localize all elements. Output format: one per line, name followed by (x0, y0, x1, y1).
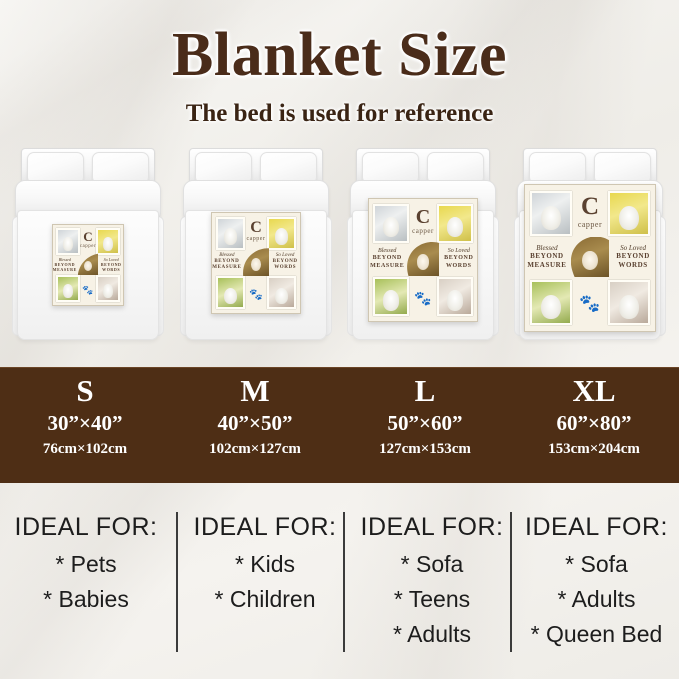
ideal-item: * Sofa (347, 551, 517, 577)
ideal-item: * Adults (347, 621, 517, 647)
size-cm: 102cm×127cm (170, 441, 340, 458)
column-divider (510, 512, 512, 652)
size-label: L (340, 374, 510, 408)
photo-dog-3 (373, 277, 409, 316)
monogram-block: C capper (409, 205, 437, 239)
monogram-letter: C (416, 208, 430, 226)
ideal-heading: IDEAL FOR: (347, 514, 517, 542)
heart-photo (407, 242, 439, 276)
size-label: S (0, 374, 170, 408)
photo-dog-2 (96, 228, 121, 255)
photo-dog-4 (608, 280, 650, 326)
blessed-text: Blessed BEYOND MEASURE (216, 249, 239, 275)
loved-text: So Loved BEYOND WORDS (274, 249, 297, 275)
size-column-xl: XL 60”×80” 153cm×204cm (509, 368, 679, 483)
blessed-text: Blessed BEYOND MEASURE (373, 243, 401, 274)
blanket-size-infographic: Blanket Size The bed is used for referen… (0, 0, 679, 679)
photo-dog-2 (267, 217, 297, 250)
monogram-block: C capper (79, 229, 97, 251)
ideal-item: * Pets (0, 551, 172, 577)
monogram-letter: C (250, 221, 262, 235)
heart-photo (78, 253, 99, 275)
photo-dog-3 (216, 276, 246, 309)
monogram-letter: C (581, 196, 599, 219)
size-column-l: L 50”×60” 127cm×153cm (340, 368, 510, 483)
blessed-text: Blessed BEYOND MEASURE (56, 254, 74, 275)
bed-panel-s: C capper Blessed BEYOND MEASURE So Loved… (12, 146, 164, 342)
bed-panel-xl: C capper Blessed BEYOND MEASURE So Loved… (514, 146, 666, 342)
ideal-column-l: IDEAL FOR: * Sofa * Teens * Adults (347, 500, 517, 679)
ideal-item: * Adults (514, 586, 679, 612)
ideal-heading: IDEAL FOR: (0, 514, 172, 542)
photo-dog-1 (373, 204, 409, 243)
loved-text: So Loved BEYOND WORDS (616, 238, 649, 276)
photo-dog-4 (96, 275, 121, 302)
ideal-heading: IDEAL FOR: (180, 514, 350, 542)
size-label: XL (509, 374, 679, 408)
monogram-block: C capper (245, 218, 268, 246)
photo-dog-4 (437, 277, 473, 316)
paw-heart-icon: 🐾 (573, 285, 606, 324)
size-cm: 76cm×102cm (0, 441, 170, 458)
ideal-heading: IDEAL FOR: (514, 514, 679, 542)
paw-heart-icon: 🐾 (79, 280, 97, 301)
blessed-text: Blessed BEYOND MEASURE (530, 238, 563, 276)
size-label: M (170, 374, 340, 408)
size-cm: 127cm×153cm (340, 441, 510, 458)
ideal-item: * Sofa (514, 551, 679, 577)
size-inches: 30”×40” (0, 412, 170, 435)
pet-name: capper (578, 220, 602, 229)
ideal-item: * Babies (0, 586, 172, 612)
photo-dog-3 (530, 280, 572, 326)
size-band: S 30”×40” 76cm×102cm M 40”×50” 102cm×127… (0, 367, 679, 483)
monogram-block: C capper (573, 192, 606, 232)
photo-dog-2 (608, 191, 650, 237)
photo-dog-1 (530, 191, 572, 237)
loved-text: So Loved BEYOND WORDS (445, 243, 473, 274)
monogram-letter: C (83, 231, 92, 243)
size-cm: 153cm×204cm (509, 441, 679, 458)
size-inches: 50”×60” (340, 412, 510, 435)
ideal-item: * Kids (180, 551, 350, 577)
blanket-l: C capper Blessed BEYOND MEASURE So Loved… (368, 198, 478, 322)
ideal-column-m: IDEAL FOR: * Kids * Children (180, 500, 350, 679)
pet-name: capper (412, 227, 434, 235)
page-title: Blanket Size (0, 24, 679, 86)
paw-heart-icon: 🐾 (409, 282, 437, 315)
ideal-column-s: IDEAL FOR: * Pets * Babies (0, 500, 172, 679)
bed-panel-l: C capper Blessed BEYOND MEASURE So Loved… (347, 146, 499, 342)
pet-name: capper (80, 244, 96, 249)
column-divider (343, 512, 345, 652)
ideal-item: * Queen Bed (514, 621, 679, 647)
blanket-xl: C capper Blessed BEYOND MEASURE So Loved… (524, 184, 656, 332)
page-subtitle: The bed is used for reference (0, 100, 679, 128)
size-inches: 40”×50” (170, 412, 340, 435)
pet-name: capper (246, 236, 265, 242)
column-divider (176, 512, 178, 652)
ideal-item: * Children (180, 586, 350, 612)
ideal-column-xl: IDEAL FOR: * Sofa * Adults * Queen Bed (514, 500, 679, 679)
photo-dog-4 (267, 276, 297, 309)
blanket-s: C capper Blessed BEYOND MEASURE So Loved… (52, 224, 124, 306)
ideal-item: * Teens (347, 586, 517, 612)
photo-dog-3 (56, 275, 81, 302)
bed-panel-m: C capper Blessed BEYOND MEASURE So Loved… (180, 146, 332, 342)
paw-heart-icon: 🐾 (245, 281, 268, 308)
photo-dog-2 (437, 204, 473, 243)
size-column-m: M 40”×50” 102cm×127cm (170, 368, 340, 483)
heart-photo (243, 248, 269, 276)
loved-text: So Loved BEYOND WORDS (102, 254, 120, 275)
heart-photo (571, 237, 609, 277)
size-inches: 60”×80” (509, 412, 679, 435)
photo-dog-1 (216, 217, 246, 250)
ideal-for-row: IDEAL FOR: * Pets * Babies IDEAL FOR: * … (0, 500, 679, 679)
bed-comparison-row: C capper Blessed BEYOND MEASURE So Loved… (0, 146, 679, 346)
blanket-m: C capper Blessed BEYOND MEASURE So Loved… (211, 212, 301, 314)
size-column-s: S 30”×40” 76cm×102cm (0, 368, 170, 483)
photo-dog-1 (56, 228, 81, 255)
